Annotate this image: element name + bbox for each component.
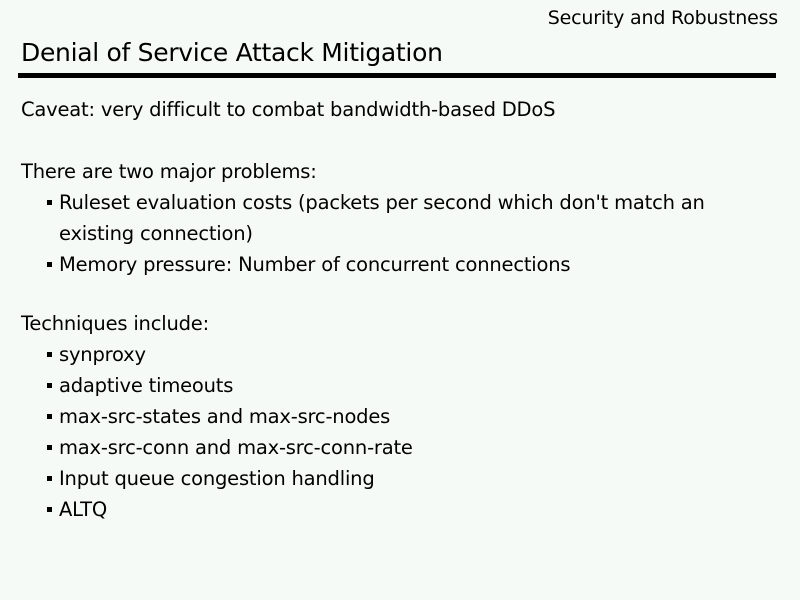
slide-kicker: Security and Robustness <box>548 7 778 29</box>
list-item-label: adaptive timeouts <box>59 370 766 401</box>
list-item: Memory pressure: Number of concurrent co… <box>0 249 800 280</box>
list-item-label: max-src-states and max-src-nodes <box>59 401 766 432</box>
spacer <box>0 280 800 308</box>
techniques-list: synproxy adaptive timeouts max-src-state… <box>0 339 800 525</box>
title-divider <box>18 73 776 78</box>
slide: Security and Robustness Denial of Servic… <box>0 0 800 600</box>
list-item: max-src-conn and max-src-conn-rate <box>0 432 800 463</box>
square-bullet-icon <box>47 476 52 481</box>
square-bullet-icon <box>47 507 52 512</box>
caveat-text: Caveat: very difficult to combat bandwid… <box>0 94 800 125</box>
list-item: Input queue congestion handling <box>0 463 800 494</box>
square-bullet-icon <box>47 445 52 450</box>
list-item: adaptive timeouts <box>0 370 800 401</box>
square-bullet-icon <box>47 262 52 267</box>
list-item: Ruleset evaluation costs (packets per se… <box>0 187 800 249</box>
problems-list: Ruleset evaluation costs (packets per se… <box>0 187 800 280</box>
techniques-heading: Techniques include: <box>0 308 800 339</box>
list-item: ALTQ <box>0 494 800 525</box>
list-item-label: Ruleset evaluation costs (packets per se… <box>59 187 766 249</box>
list-item-label: Input queue congestion handling <box>59 463 766 494</box>
square-bullet-icon <box>47 414 52 419</box>
list-item: max-src-states and max-src-nodes <box>0 401 800 432</box>
slide-body: Caveat: very difficult to combat bandwid… <box>0 94 800 525</box>
problems-heading: There are two major problems: <box>0 156 800 187</box>
spacer <box>0 125 800 156</box>
list-item-label: Memory pressure: Number of concurrent co… <box>59 249 766 280</box>
square-bullet-icon <box>47 352 52 357</box>
list-item-label: synproxy <box>59 339 766 370</box>
page-title: Denial of Service Attack Mitigation <box>21 38 443 68</box>
list-item-label: max-src-conn and max-src-conn-rate <box>59 432 766 463</box>
square-bullet-icon <box>47 200 52 205</box>
list-item-label: ALTQ <box>59 494 766 525</box>
list-item: synproxy <box>0 339 800 370</box>
square-bullet-icon <box>47 383 52 388</box>
